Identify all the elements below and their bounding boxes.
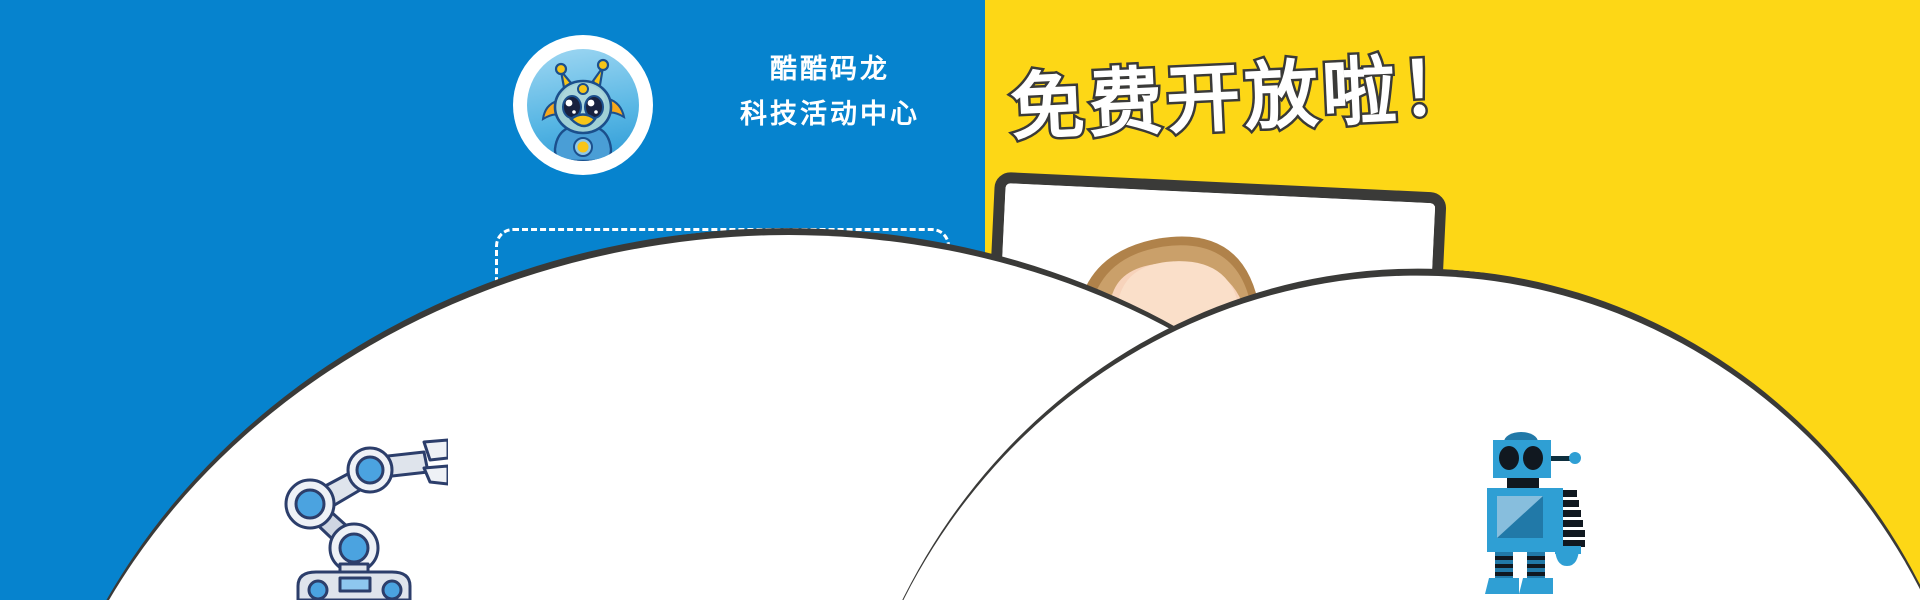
headline-text: 免费开放啦！ — [1008, 27, 1480, 155]
brand-line-2: 科技活动中心 — [700, 95, 960, 134]
brand-line-1: 酷酷码龙 — [700, 50, 960, 89]
mascot-dragon-logo — [527, 49, 639, 161]
toy-robot-icon — [1483, 428, 1613, 600]
logo-badge — [513, 35, 653, 175]
robot-arm-icon — [258, 428, 448, 600]
robot-arm-illustration — [258, 428, 448, 600]
promo-banner: 酷酷码龙 科技活动中心 免费开放啦！ 免费拼搭 不限时长，免费拼搭，进店即可畅 … — [0, 0, 1920, 600]
logo-inner-circle — [527, 49, 639, 161]
brand-text: 酷酷码龙 科技活动中心 — [700, 50, 960, 134]
toy-robot-illustration — [1483, 428, 1613, 600]
